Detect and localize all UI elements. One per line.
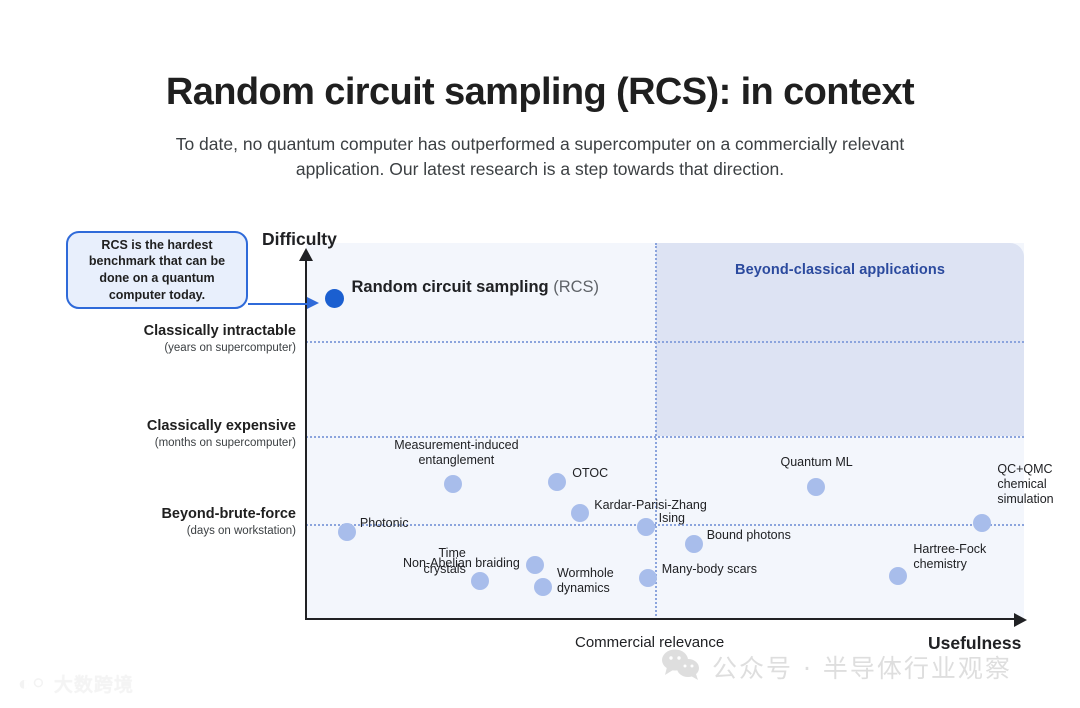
data-point-label: Many-body scars — [662, 562, 757, 577]
data-point-label: Quantum ML — [780, 455, 852, 470]
watermark-right: 公众号 · 半导体行业观察 — [660, 648, 1012, 685]
data-point[interactable] — [338, 523, 356, 541]
callout-box: RCS is the hardest benchmark that can be… — [66, 231, 248, 309]
y-tick-label: Beyond-brute-force — [0, 506, 296, 524]
callout-arrow-icon — [307, 297, 319, 309]
gridline-vertical — [655, 243, 657, 620]
y-axis-tick-0: Classically intractable(years on superco… — [0, 323, 296, 355]
watermark-left: ◐⚪ 大数跨境 — [18, 670, 134, 697]
y-axis-line — [305, 258, 307, 620]
x-axis-arrow-icon — [1014, 613, 1027, 627]
data-point-label: QC+QMC chemical simulation — [997, 462, 1053, 508]
data-point[interactable] — [973, 514, 991, 532]
data-point-label: Ising — [659, 511, 685, 526]
data-point-label: Photonic — [360, 516, 409, 531]
data-point-label: Wormhole dynamics — [557, 566, 614, 597]
y-tick-label: Classically expensive — [0, 418, 296, 436]
data-point[interactable] — [637, 518, 655, 536]
y-axis-tick-1: Classically expensive(months on supercom… — [0, 418, 296, 450]
data-point-label: Bound photons — [707, 528, 791, 543]
data-point-label: Random circuit sampling (RCS) — [352, 277, 600, 297]
watermark-right-text: 公众号 · 半导体行业观察 — [712, 649, 1012, 685]
data-point[interactable] — [685, 535, 703, 553]
callout-text: RCS is the hardest benchmark that can be… — [76, 237, 238, 304]
scatter-chart: Beyond-classical applications Difficulty… — [0, 0, 1080, 708]
data-point[interactable] — [444, 475, 462, 493]
y-tick-sublabel: (years on supercomputer) — [0, 341, 296, 355]
data-point-label: Hartree-Fock chemistry — [913, 542, 986, 573]
y-tick-label: Classically intractable — [0, 323, 296, 341]
data-point-label: Measurement-induced entanglement — [394, 438, 518, 469]
data-point[interactable] — [639, 569, 657, 587]
data-point[interactable] — [534, 578, 552, 596]
data-point[interactable] — [325, 289, 344, 308]
watermark-left-text: 大数跨境 — [54, 670, 134, 697]
data-point-label: Kardar-Parisi-Zhang — [594, 498, 707, 513]
zone-beyond-classical-label: Beyond-classical applications — [656, 262, 1024, 278]
y-tick-sublabel: (days on workstation) — [0, 524, 296, 538]
gridline-horizontal — [306, 341, 1024, 343]
y-axis-title: Difficulty — [262, 229, 337, 250]
y-axis-tick-2: Beyond-brute-force(days on workstation) — [0, 506, 296, 538]
data-point-label-suffix: (RCS) — [553, 278, 599, 296]
wechat-bubble-icon — [660, 648, 702, 685]
data-point-label: Time crystals — [423, 546, 465, 577]
watermark-logo-icon: ◐⚪ — [18, 674, 47, 694]
data-point-label-main: Random circuit sampling — [352, 278, 554, 296]
x-axis-line — [305, 618, 1017, 620]
y-tick-sublabel: (months on supercomputer) — [0, 436, 296, 450]
callout-connector-line — [248, 303, 310, 305]
data-point-label: OTOC — [572, 466, 608, 481]
